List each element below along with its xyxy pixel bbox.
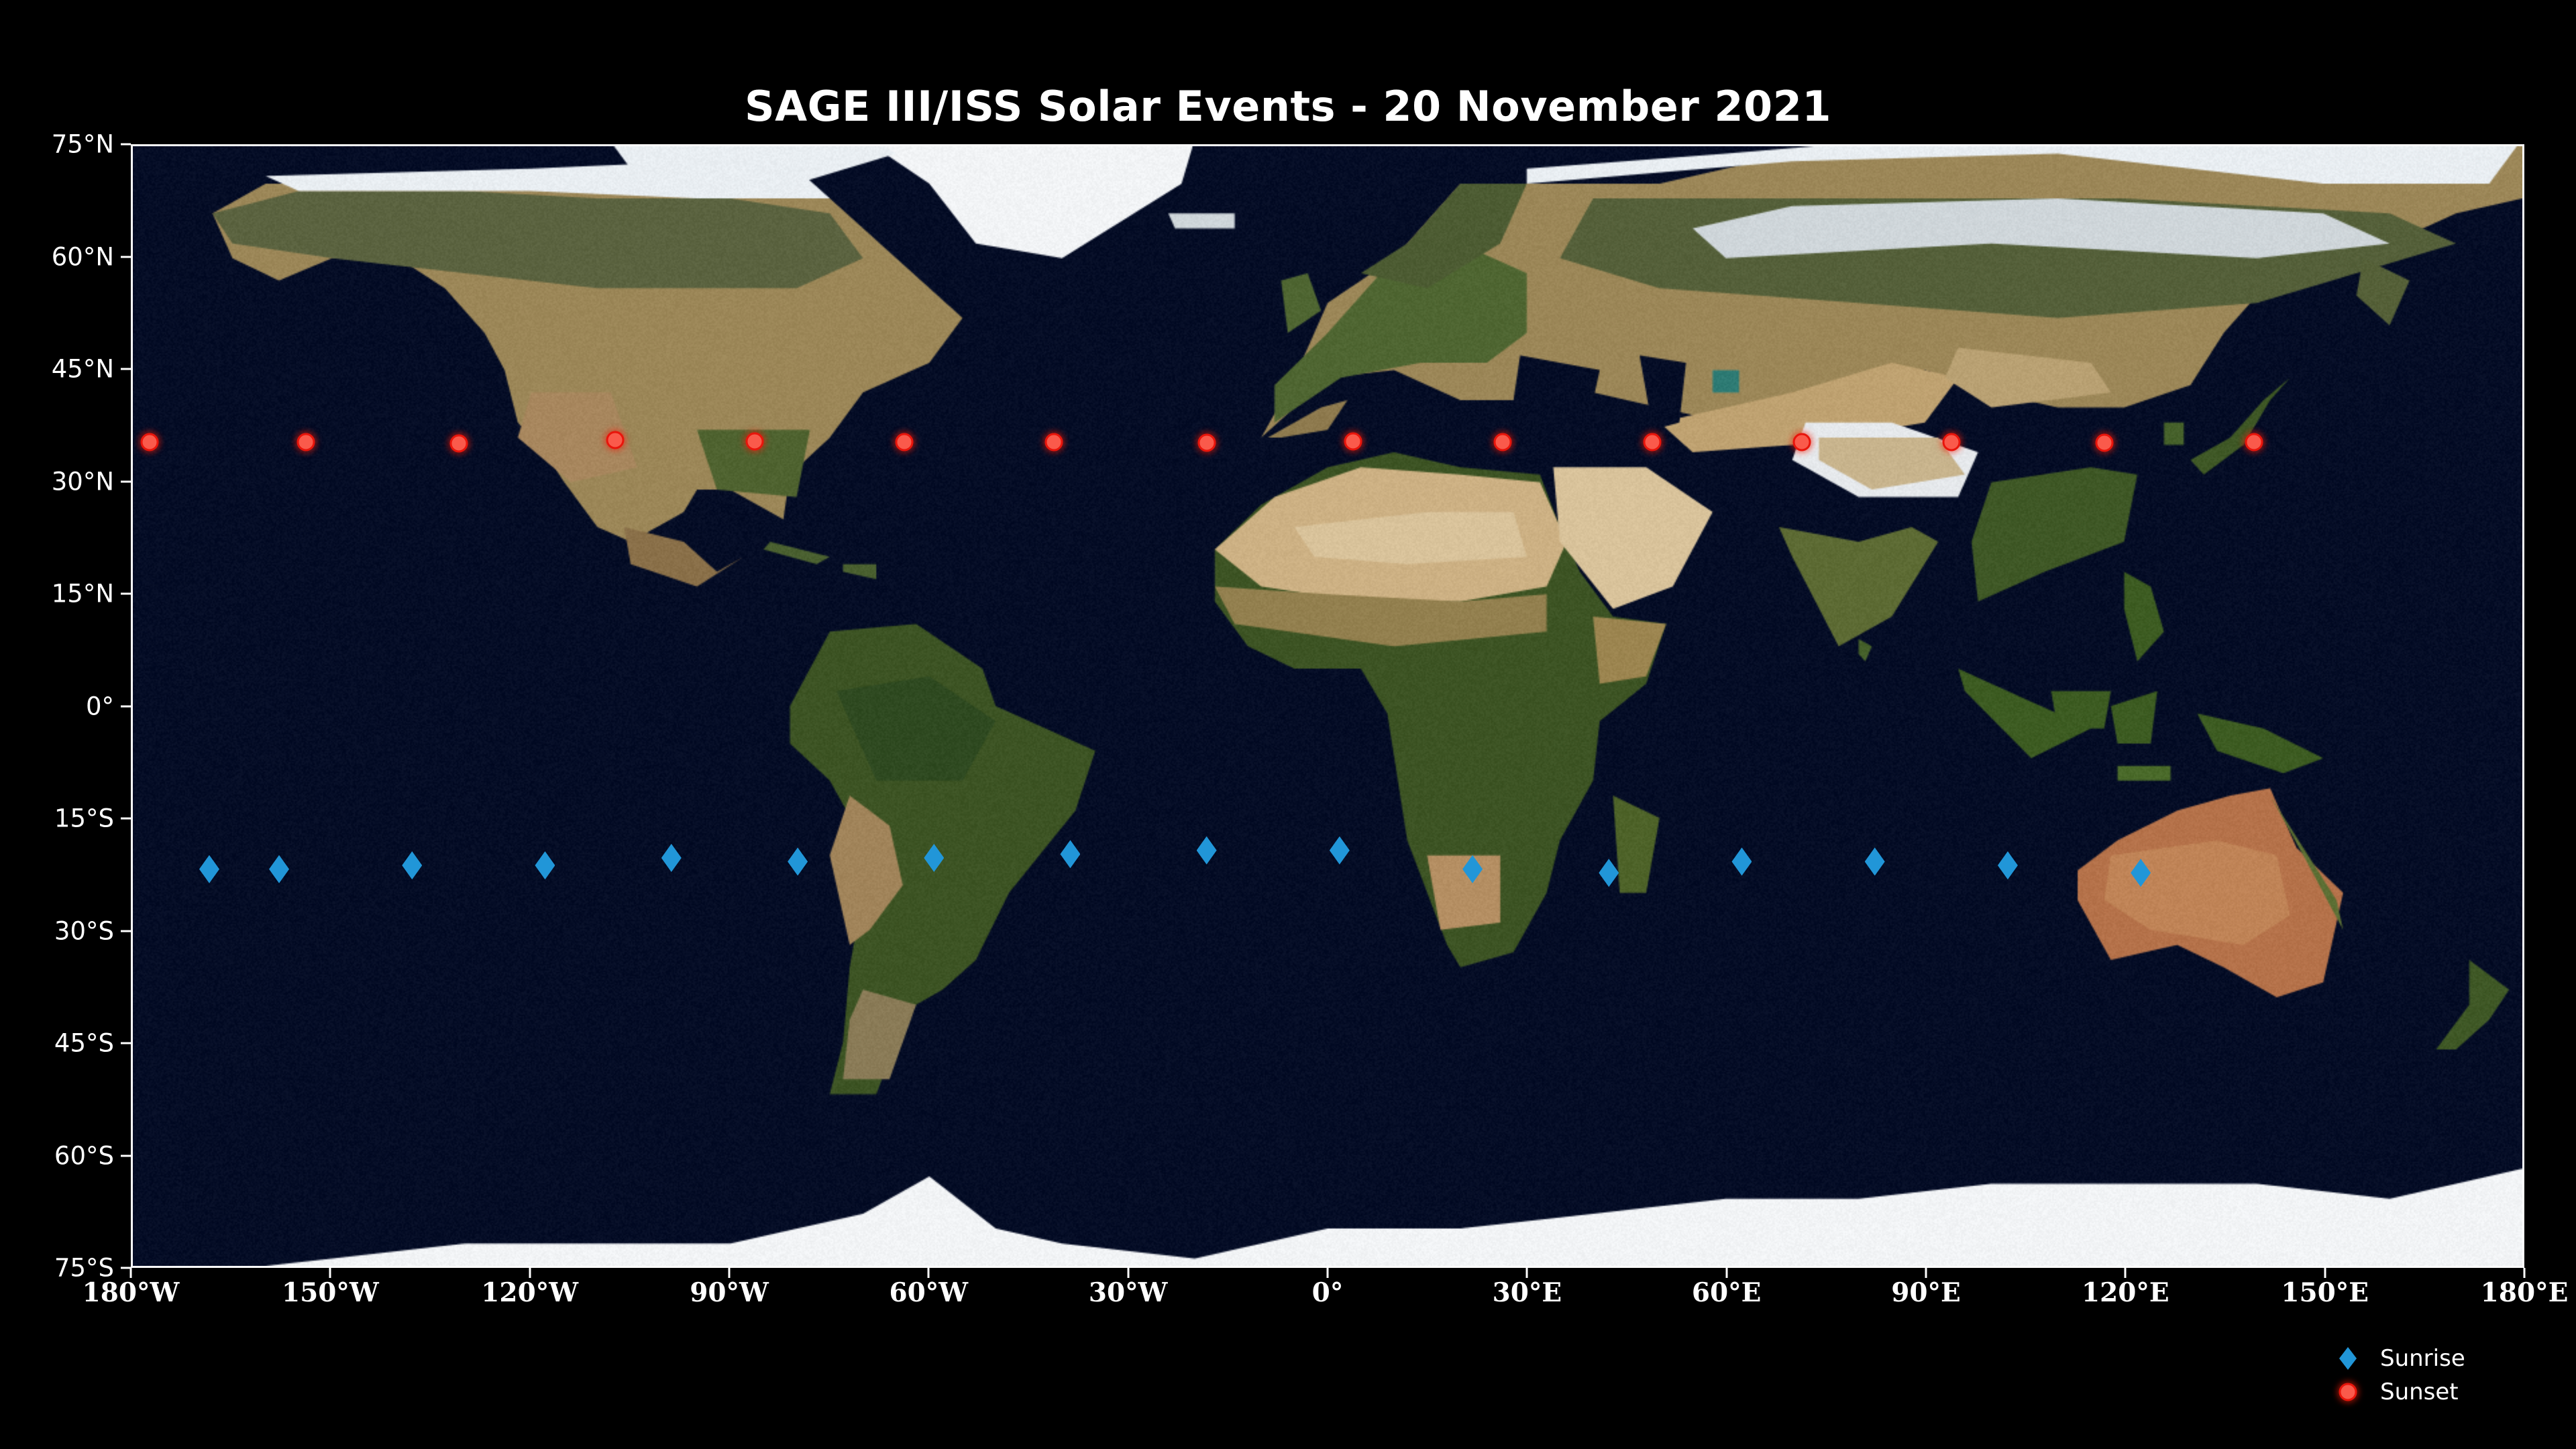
latitude-tick-mark — [121, 593, 131, 595]
latitude-tick-mark — [121, 480, 131, 482]
longitude-tick-mark — [329, 1268, 331, 1278]
sunrise-marker[interactable] — [1998, 851, 2018, 879]
latitude-tick-label: 60°N — [0, 242, 114, 271]
sunset-marker[interactable] — [140, 433, 158, 451]
longitude-tick-mark — [529, 1268, 531, 1278]
longitude-tick-label: 60°E — [1692, 1277, 1762, 1308]
legend-item[interactable]: Sunset — [2348, 1375, 2563, 1409]
longitude-tick-label: 120°E — [2082, 1277, 2169, 1308]
legend-item-label: Sunset — [2380, 1379, 2459, 1405]
longitude-tick-label: 0° — [1312, 1277, 1344, 1308]
sunrise-marker[interactable] — [1197, 837, 1217, 865]
latitude-tick-mark — [121, 818, 131, 820]
sunset-marker[interactable] — [1197, 434, 1216, 452]
longitude-tick-label: 180°E — [2481, 1277, 2569, 1308]
longitude-tick-mark — [1526, 1268, 1528, 1278]
sunset-marker-icon — [2339, 1383, 2357, 1401]
sunset-marker[interactable] — [1942, 433, 1960, 451]
longitude-tick-label: 30°E — [1493, 1277, 1562, 1308]
page-title: SAGE III/ISS Solar Events - 20 November … — [0, 86, 2576, 127]
longitude-tick-mark — [1925, 1268, 1927, 1278]
sunset-marker[interactable] — [1792, 433, 1811, 451]
latitude-tick-label: 15°N — [0, 580, 114, 608]
sunrise-marker-icon — [2339, 1347, 2357, 1370]
map-plot-area[interactable] — [131, 144, 2524, 1268]
longitude-tick-label: 180°W — [83, 1277, 180, 1308]
longitude-tick-label: 120°W — [481, 1277, 578, 1308]
sunset-marker[interactable] — [1344, 432, 1362, 450]
longitude-tick-mark — [1725, 1268, 1727, 1278]
latitude-tick-mark — [121, 256, 131, 258]
latitude-tick-mark — [121, 930, 131, 932]
sunset-marker[interactable] — [745, 432, 763, 450]
latitude-tick-label: 45°S — [0, 1029, 114, 1058]
sunrise-marker[interactable] — [1462, 855, 1483, 883]
sunset-marker[interactable] — [297, 433, 315, 451]
sunset-marker[interactable] — [895, 433, 913, 451]
longitude-tick-label: 150°W — [282, 1277, 379, 1308]
map-legend: SunriseSunset — [2348, 1342, 2563, 1409]
longitude-tick-mark — [928, 1268, 930, 1278]
sunrise-marker[interactable] — [199, 855, 219, 883]
sunset-marker[interactable] — [2095, 434, 2113, 452]
latitude-tick-label: 30°S — [0, 916, 114, 945]
latitude-tick-label: 60°S — [0, 1141, 114, 1170]
latitude-tick-mark — [121, 705, 131, 707]
sunrise-marker[interactable] — [2131, 859, 2151, 887]
sunrise-marker[interactable] — [1865, 847, 1885, 875]
longitude-tick-mark — [130, 1268, 132, 1278]
sunrise-marker[interactable] — [924, 844, 944, 872]
sunset-marker[interactable] — [606, 431, 624, 449]
legend-item-label: Sunrise — [2380, 1345, 2465, 1372]
longitude-tick-mark — [2324, 1268, 2326, 1278]
marker-layer — [133, 146, 2522, 1266]
longitude-tick-label: 30°W — [1089, 1277, 1168, 1308]
latitude-tick-mark — [121, 368, 131, 370]
sunrise-marker[interactable] — [1060, 840, 1080, 868]
latitude-tick-label: 45°N — [0, 355, 114, 384]
latitude-tick-mark — [121, 144, 131, 146]
legend-item[interactable]: Sunrise — [2348, 1342, 2563, 1375]
sunrise-marker[interactable] — [1330, 837, 1350, 865]
latitude-tick-label: 75°N — [0, 130, 114, 159]
figure-root: SAGE III/ISS Solar Events - 20 November … — [0, 0, 2576, 1449]
sunset-marker[interactable] — [2245, 433, 2263, 451]
sunrise-marker[interactable] — [269, 855, 289, 883]
sunset-marker[interactable] — [449, 435, 468, 453]
sunrise-marker[interactable] — [788, 847, 808, 875]
latitude-tick-label: 15°S — [0, 804, 114, 833]
sunrise-marker[interactable] — [661, 844, 682, 872]
latitude-tick-mark — [121, 1155, 131, 1157]
sunset-marker[interactable] — [1044, 433, 1063, 451]
sunrise-marker[interactable] — [402, 851, 422, 879]
longitude-tick-mark — [2125, 1268, 2127, 1278]
sunrise-marker[interactable] — [1599, 859, 1619, 887]
sunset-marker[interactable] — [1643, 433, 1661, 451]
longitude-tick-mark — [1127, 1268, 1129, 1278]
latitude-tick-label: 30°N — [0, 467, 114, 496]
longitude-tick-mark — [1327, 1268, 1329, 1278]
sunrise-marker[interactable] — [535, 851, 555, 879]
longitude-tick-mark — [729, 1268, 731, 1278]
latitude-tick-label: 0° — [0, 692, 114, 720]
sunset-marker[interactable] — [1493, 433, 1511, 451]
sunrise-marker[interactable] — [1731, 847, 1752, 875]
longitude-tick-label: 90°E — [1891, 1277, 1961, 1308]
longitude-tick-label: 90°W — [690, 1277, 769, 1308]
longitude-tick-label: 150°E — [2281, 1277, 2369, 1308]
longitude-tick-mark — [2524, 1268, 2526, 1278]
longitude-tick-label: 60°W — [890, 1277, 969, 1308]
latitude-tick-mark — [121, 1042, 131, 1044]
